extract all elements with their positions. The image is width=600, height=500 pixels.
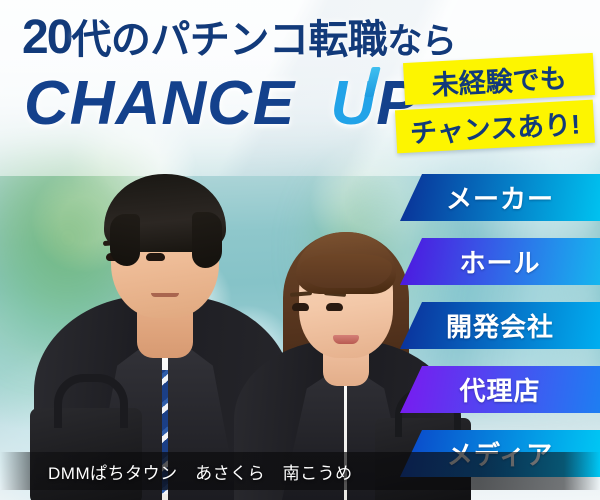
category-button-maker-label: メーカー: [446, 179, 554, 216]
female-hair-bangs: [300, 254, 392, 288]
category-button-hall[interactable]: ホール: [400, 238, 600, 285]
headline-suffix: なら: [387, 22, 456, 61]
credit-text: DMMぱちタウン あさくら 南こうめ: [48, 459, 353, 484]
male-hair: [104, 174, 226, 252]
category-button-agency-label: 代理店: [459, 371, 540, 408]
headline-number: 20: [22, 11, 71, 64]
badge-chance-available-label: チャンスあり!: [409, 102, 581, 150]
category-button-list: メーカー ホール 開発会社 代理店 メディア: [400, 174, 600, 477]
category-button-developer[interactable]: 開発会社: [400, 302, 600, 349]
headline-middle: 代のパチンコ転職: [71, 18, 387, 62]
male-eye-right: [146, 253, 165, 261]
male-mouth: [151, 293, 179, 297]
category-button-developer-label: 開発会社: [446, 307, 554, 344]
female-eye-right: [326, 303, 343, 311]
category-button-agency[interactable]: 代理店: [400, 366, 600, 413]
category-button-maker[interactable]: メーカー: [400, 174, 600, 221]
logo-spacer: [295, 69, 330, 138]
category-button-hall-label: ホール: [459, 243, 540, 280]
headline-text: 20代のパチンコ転職なら: [22, 14, 456, 62]
badge-no-experience-label: 未経験でも: [431, 56, 568, 102]
advertisement-banner[interactable]: 20代のパチンコ転職なら CHANCE UP 未経験でも チャンスあり! メーカ…: [0, 0, 600, 500]
logo-letter-u: U: [330, 73, 376, 135]
female-eye-left: [292, 303, 309, 311]
female-mouth: [333, 335, 359, 344]
credit-bar: DMMぱちタウン あさくら 南こうめ: [0, 452, 600, 490]
chance-up-logo: CHANCE UP: [24, 73, 419, 135]
logo-word-chance: CHANCE: [24, 69, 295, 138]
